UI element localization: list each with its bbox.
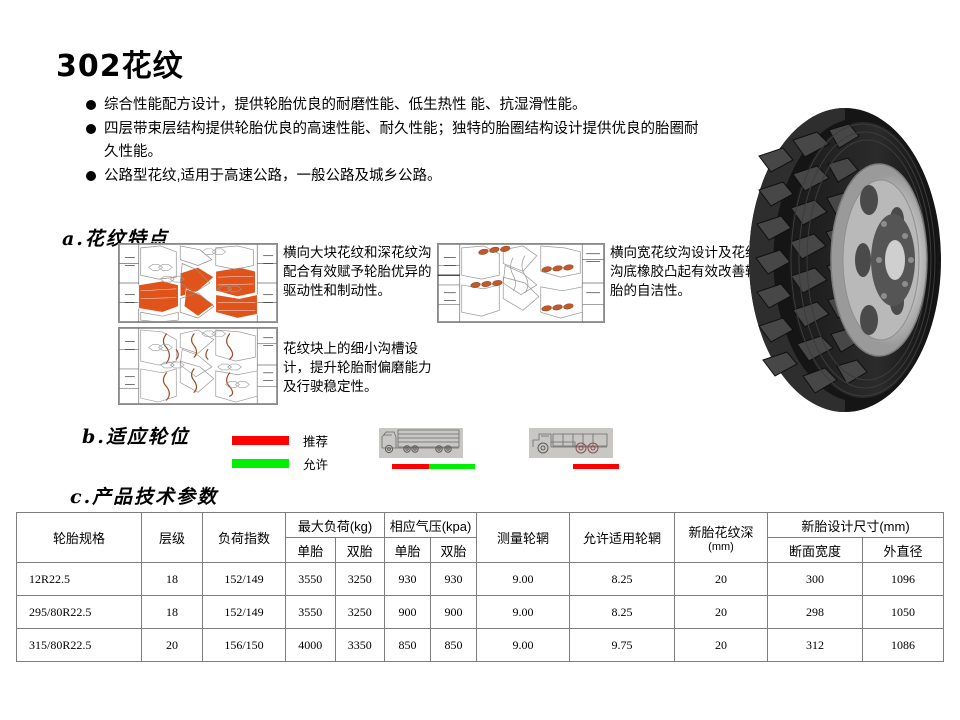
- cell-tread-depth: 20: [675, 563, 768, 596]
- th-load-index: 负荷指数: [203, 513, 286, 563]
- feature-text: 四层带束层结构提供轮胎优良的高速性能、耐久性能；独特的胎圈结构设计提供优良的胎圈…: [104, 121, 699, 160]
- wheel-position-legend: 推荐 允许: [232, 430, 328, 476]
- page-title: 302花纹: [56, 52, 184, 82]
- product-spec-table: 轮胎规格 层级 负荷指数 最大负荷(kg) 相应气压(kpa) 测量轮辋 允许适…: [16, 512, 944, 662]
- tire-product-photo: [745, 104, 945, 416]
- cell-spec: 12R22.5: [17, 563, 142, 596]
- cell-tread-depth: 20: [675, 629, 768, 662]
- th-new-size: 新胎设计尺寸(mm): [768, 513, 944, 538]
- tread-diagram-grooves: [437, 243, 605, 323]
- cell-pressure-dual: 900: [431, 596, 477, 629]
- cell-section-width: 300: [768, 563, 863, 596]
- legend-label-recommended: 推荐: [303, 431, 328, 450]
- legend-swatch-recommended: [232, 436, 289, 445]
- th-tread-depth: 新胎花纹深 (mm): [675, 513, 768, 563]
- th-pressure-single: 单胎: [385, 538, 431, 563]
- cell-pressure-single: 930: [385, 563, 431, 596]
- cell-load-index: 152/149: [203, 596, 286, 629]
- th-outer-diameter: 外直径: [863, 538, 944, 563]
- cell-tread-depth: 20: [675, 596, 768, 629]
- table-body: 12R22.5 18 152/149 3550 3250 930 930 9.0…: [17, 563, 944, 662]
- cell-measure-rim: 9.00: [477, 563, 570, 596]
- cell-max-load-dual: 3350: [335, 629, 385, 662]
- cell-section-width: 298: [768, 596, 863, 629]
- cell-outer-diameter: 1050: [863, 596, 944, 629]
- legend-swatch-allowed: [232, 459, 289, 468]
- cell-outer-diameter: 1086: [863, 629, 944, 662]
- th-tread-depth-unit: (mm): [675, 541, 767, 553]
- axle-mark-allowed-rear: [429, 464, 475, 469]
- cell-pressure-dual: 850: [431, 629, 477, 662]
- cell-max-load-single: 4000: [286, 629, 336, 662]
- legend-row-allowed: 允许: [232, 453, 328, 473]
- cell-load-index: 156/150: [203, 629, 286, 662]
- th-ply: 层级: [142, 513, 203, 563]
- cell-max-load-dual: 3250: [335, 563, 385, 596]
- table-row: 12R22.5 18 152/149 3550 3250 930 930 9.0…: [17, 563, 944, 596]
- th-pressure: 相应气压(kpa): [385, 513, 477, 538]
- cell-pressure-dual: 930: [431, 563, 477, 596]
- cell-spec: 315/80R22.5: [17, 629, 142, 662]
- tread-diagram-blocks: [118, 243, 278, 323]
- feature-list: 综合性能配方设计，提供轮胎优良的耐磨性能、低生热性 能、抗湿滑性能。 四层带束层…: [86, 94, 706, 189]
- cell-max-load-dual: 3250: [335, 596, 385, 629]
- th-section-width: 断面宽度: [768, 538, 863, 563]
- th-max-load-dual: 双胎: [335, 538, 385, 563]
- cell-spec: 295/80R22.5: [17, 596, 142, 629]
- cell-allowed-rim: 8.25: [570, 563, 675, 596]
- tread-diagram-sipes: [118, 327, 278, 405]
- th-max-load-single: 单胎: [286, 538, 336, 563]
- th-pressure-dual: 双胎: [431, 538, 477, 563]
- cell-ply: 18: [142, 596, 203, 629]
- feature-item: 综合性能配方设计，提供轮胎优良的耐磨性能、低生热性 能、抗湿滑性能。: [86, 94, 706, 117]
- cell-ply: 18: [142, 563, 203, 596]
- feature-item: 四层带束层结构提供轮胎优良的高速性能、耐久性能；独特的胎圈结构设计提供优良的胎圈…: [86, 118, 706, 164]
- cell-section-width: 312: [768, 629, 863, 662]
- cell-outer-diameter: 1096: [863, 563, 944, 596]
- cell-load-index: 152/149: [203, 563, 286, 596]
- table-header-row-1: 轮胎规格 层级 负荷指数 最大负荷(kg) 相应气压(kpa) 测量轮辋 允许适…: [17, 513, 944, 538]
- table-row: 295/80R22.5 18 152/149 3550 3250 900 900…: [17, 596, 944, 629]
- bullet-icon: [86, 124, 96, 134]
- th-measure-rim: 测量轮辋: [477, 513, 570, 563]
- cell-allowed-rim: 8.25: [570, 596, 675, 629]
- table-row: 315/80R22.5 20 156/150 4000 3350 850 850…: [17, 629, 944, 662]
- cell-max-load-single: 3550: [286, 563, 336, 596]
- truck-diagram-box-truck: [379, 428, 463, 458]
- legend-row-recommended: 推荐: [232, 430, 328, 450]
- legend-label-allowed: 允许: [303, 454, 328, 473]
- bullet-icon: [86, 100, 96, 110]
- section-heading-tech-params: c.产品技术参数: [70, 482, 218, 509]
- feature-text: 综合性能配方设计，提供轮胎优良的耐磨性能、低生热性 能、抗湿滑性能。: [104, 97, 587, 113]
- section-heading-wheel-position: b.适应轮位: [82, 422, 190, 449]
- tread-caption-blocks: 横向大块花纹和深花纹沟配合有效赋予轮胎优异的驱动性和制动性。: [283, 243, 443, 300]
- feature-text: 公路型花纹,适用于高速公路，一般公路及城乡公路。: [104, 168, 442, 184]
- th-max-load: 最大负荷(kg): [286, 513, 385, 538]
- axle-mark-recommended-drive: [573, 464, 619, 469]
- cell-pressure-single: 850: [385, 629, 431, 662]
- cell-measure-rim: 9.00: [477, 629, 570, 662]
- th-tread-depth-label: 新胎花纹深: [675, 522, 767, 541]
- th-allowed-rim: 允许适用轮辋: [570, 513, 675, 563]
- tread-caption-sipes: 花纹块上的细小沟槽设计，提升轮胎耐偏磨能力及行驶稳定性。: [283, 339, 443, 396]
- cell-allowed-rim: 9.75: [570, 629, 675, 662]
- cell-max-load-single: 3550: [286, 596, 336, 629]
- table-header: 轮胎规格 层级 负荷指数 最大负荷(kg) 相应气压(kpa) 测量轮辋 允许适…: [17, 513, 944, 563]
- truck-diagram-dump-truck: [529, 428, 613, 458]
- cell-pressure-single: 900: [385, 596, 431, 629]
- cell-measure-rim: 9.00: [477, 596, 570, 629]
- th-spec: 轮胎规格: [17, 513, 142, 563]
- cell-ply: 20: [142, 629, 203, 662]
- feature-item: 公路型花纹,适用于高速公路，一般公路及城乡公路。: [86, 165, 706, 188]
- bullet-icon: [86, 171, 96, 181]
